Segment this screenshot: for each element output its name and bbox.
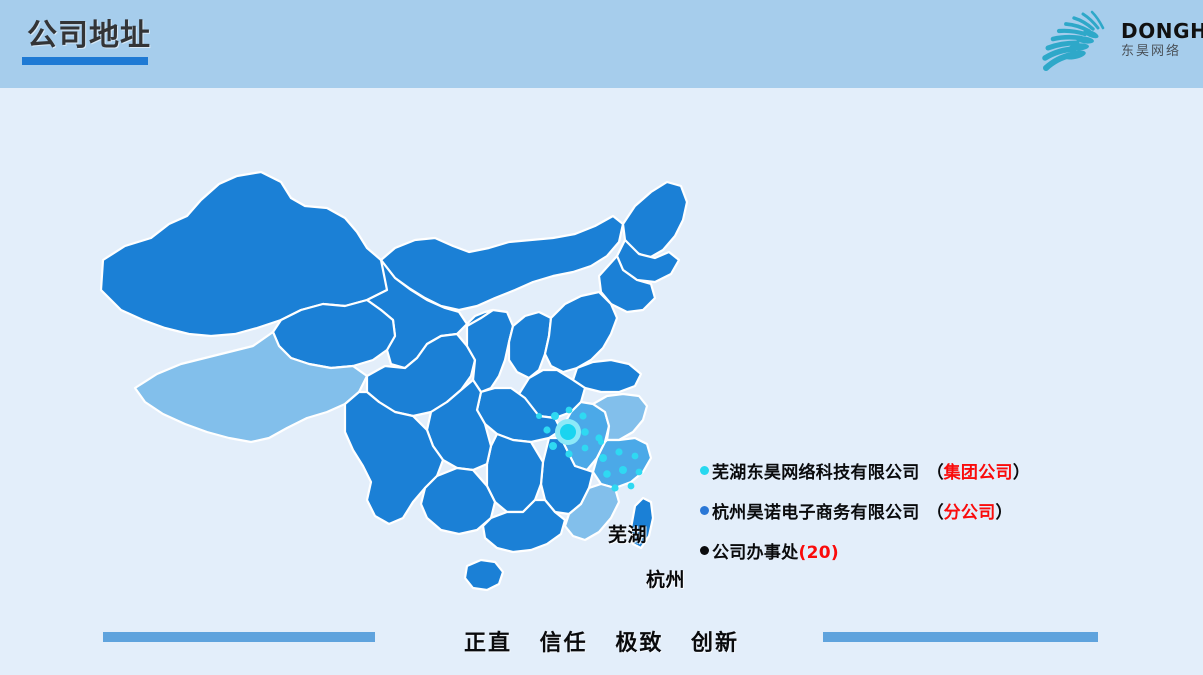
china-map: 芜湖 杭州 [95,120,715,600]
footer-slogan: 正直 信任 极致 创新 [0,625,1203,657]
map-label-wuhu: 芜湖 [608,520,647,547]
logo-name-cn: 东昊网络 [1121,43,1197,61]
slogan-word-4: 创新 [691,631,739,656]
legend-paren-close: ） [1013,458,1030,483]
feather-wing-icon [1041,8,1117,78]
title-underline-bar [22,57,148,65]
legend-paren-open: （ [927,458,944,483]
legend-label: 公司办事处 [712,538,799,563]
legend-label: 杭州昊诺电子商务有限公司 [712,498,920,523]
legend-emphasis: 分公司 [944,498,996,523]
legend-bullet-icon [700,506,709,515]
legend-emphasis: (20) [799,543,839,563]
legend-bullet-icon [700,546,709,555]
legend-list: 芜湖东昊网络科技有限公司 （ 集团公司 ） 杭州昊诺电子商务有限公司 （ 分公司… [700,458,1140,578]
province-shanxi [509,312,551,378]
legend-label: 芜湖东昊网络科技有限公司 [712,458,920,483]
legend-item-group-company: 芜湖东昊网络科技有限公司 （ 集团公司 ） [700,458,1140,498]
province-hainan [465,560,503,590]
map-label-hangzhou: 杭州 [646,565,685,592]
slogan-word-3: 极致 [615,631,663,656]
legend-item-branch-company: 杭州昊诺电子商务有限公司 （ 分公司 ） [700,498,1140,538]
slide-canvas: 公司地址 [0,0,1203,675]
hq-marker-wuhu [555,419,581,445]
logo-name-en: DONGHAO [1121,20,1197,42]
company-logo: DONGHAO 东昊网络 [1013,6,1191,80]
page-title: 公司地址 [27,16,151,56]
legend-emphasis: 集团公司 [944,458,1013,483]
slogan-word-2: 信任 [540,631,588,656]
legend-paren-open: （ [927,498,944,523]
legend-item-offices: 公司办事处 (20) [700,538,1140,578]
legend-paren-close: ） [996,498,1013,523]
legend-bullet-icon [700,466,709,475]
slogan-word-1: 正直 [464,631,512,656]
logo-text-block: DONGHAO 东昊网络 [1121,20,1197,61]
